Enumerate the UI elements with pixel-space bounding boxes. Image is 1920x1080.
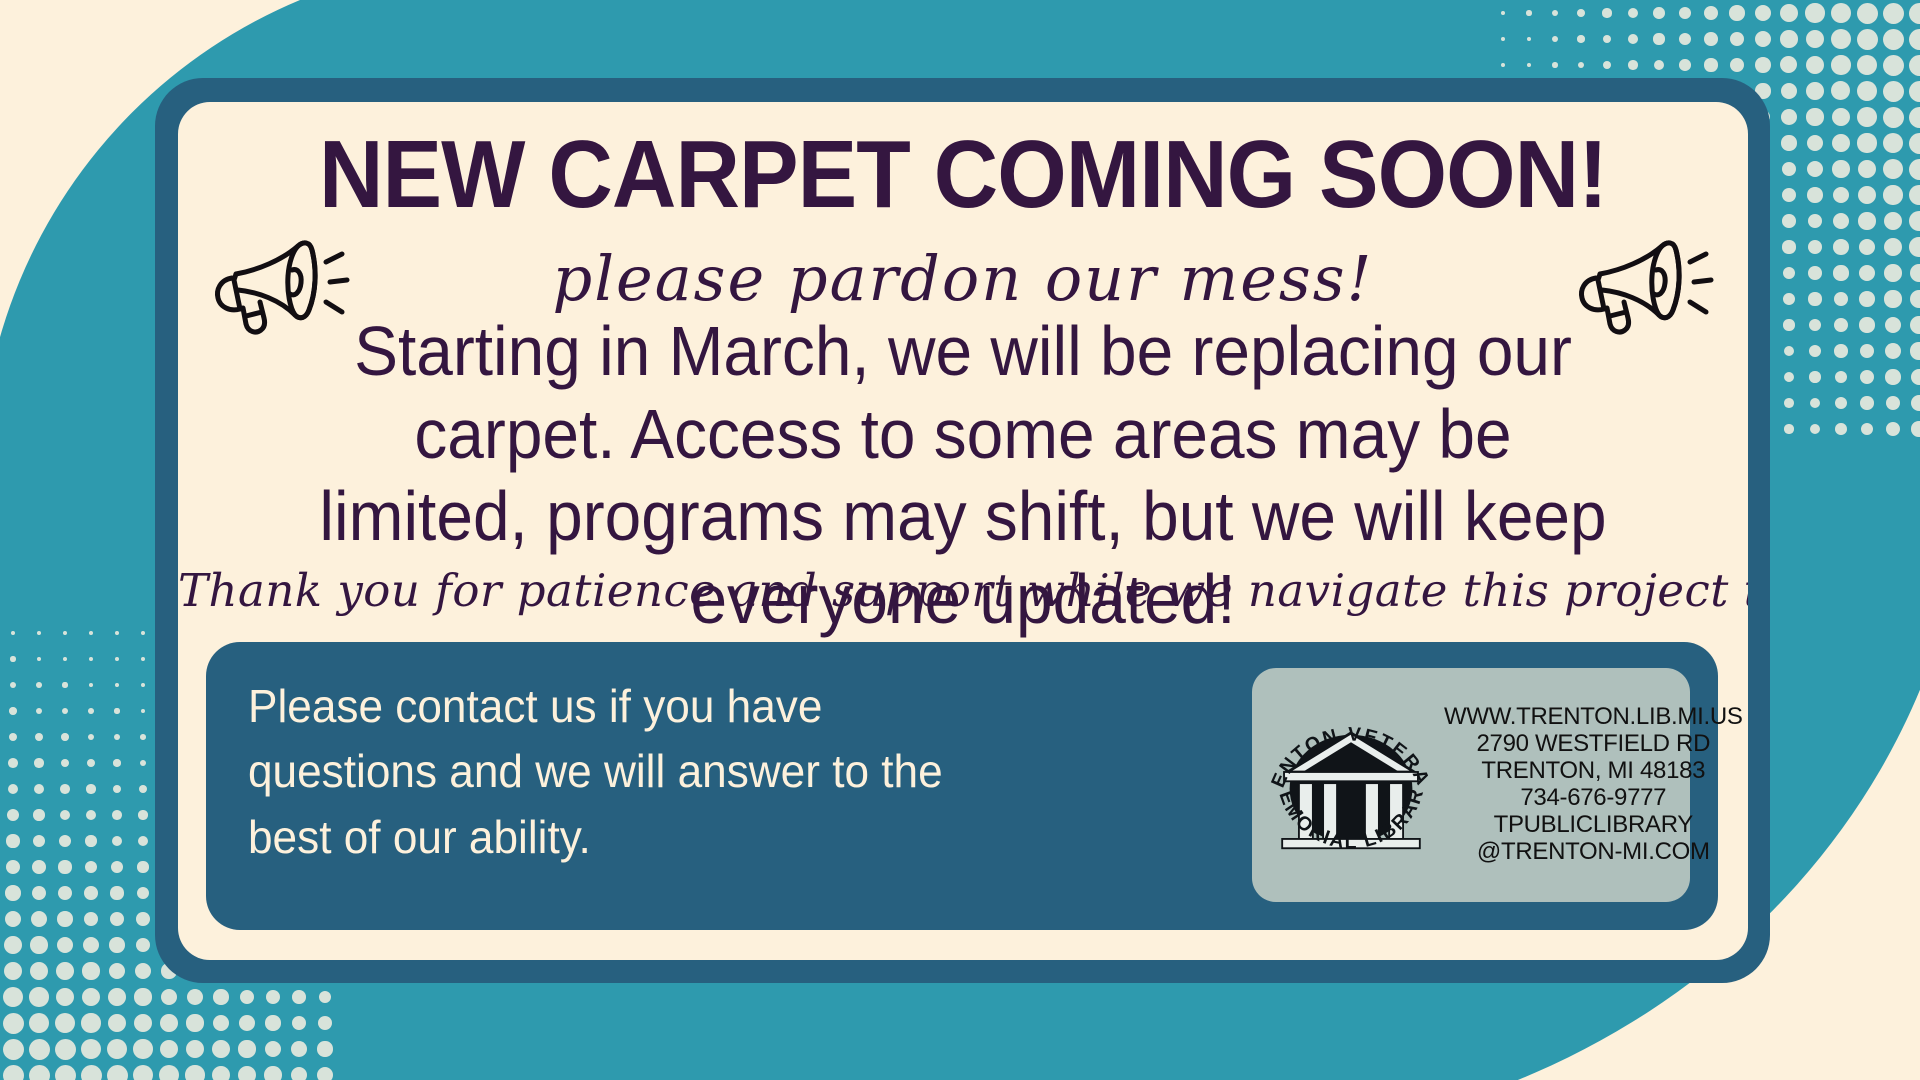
contact-panel: Please contact us if you have questions … xyxy=(206,642,1718,930)
poster-canvas: NEW CARPET COMING SOON! xyxy=(0,0,1920,1080)
contact-message-line: Please contact us if you have xyxy=(248,674,1045,739)
library-email-user: TPUBLICLIBRARY xyxy=(1444,812,1743,839)
contact-message-line: questions and we will answer to the xyxy=(248,739,1045,804)
body-line: limited, programs may shift, but we will… xyxy=(282,475,1645,558)
announcement-card: NEW CARPET COMING SOON! xyxy=(178,102,1748,960)
thanks-line: Thank you for patience and support while… xyxy=(178,564,1748,617)
library-phone: 734-676-9777 xyxy=(1444,785,1743,812)
library-emblem-icon: TRENTON VETERANS MEMORIAL LIBRARY xyxy=(1258,692,1444,878)
library-email-domain: @TRENTON-MI.COM xyxy=(1444,839,1743,866)
library-contact-info: WWW.TRENTON.LIB.MI.US 2790 WESTFIELD RD … xyxy=(1444,704,1748,865)
library-city-state-zip: TRENTON, MI 48183 xyxy=(1444,758,1743,785)
contact-message: Please contact us if you have questions … xyxy=(248,674,1045,870)
body-line: carpet. Access to some areas may be xyxy=(282,393,1645,476)
library-logo-badge: TRENTON VETERANS MEMORIAL LIBRARY WWW.TR… xyxy=(1252,668,1690,902)
page-subtitle: please pardon our mess! xyxy=(178,242,1748,315)
library-street: 2790 WESTFIELD RD xyxy=(1444,731,1743,758)
body-line: Starting in March, we will be replacing … xyxy=(282,310,1645,393)
contact-message-line: best of our ability. xyxy=(248,805,1045,870)
page-title: NEW CARPET COMING SOON! xyxy=(233,120,1693,230)
library-website: WWW.TRENTON.LIB.MI.US xyxy=(1444,704,1743,731)
